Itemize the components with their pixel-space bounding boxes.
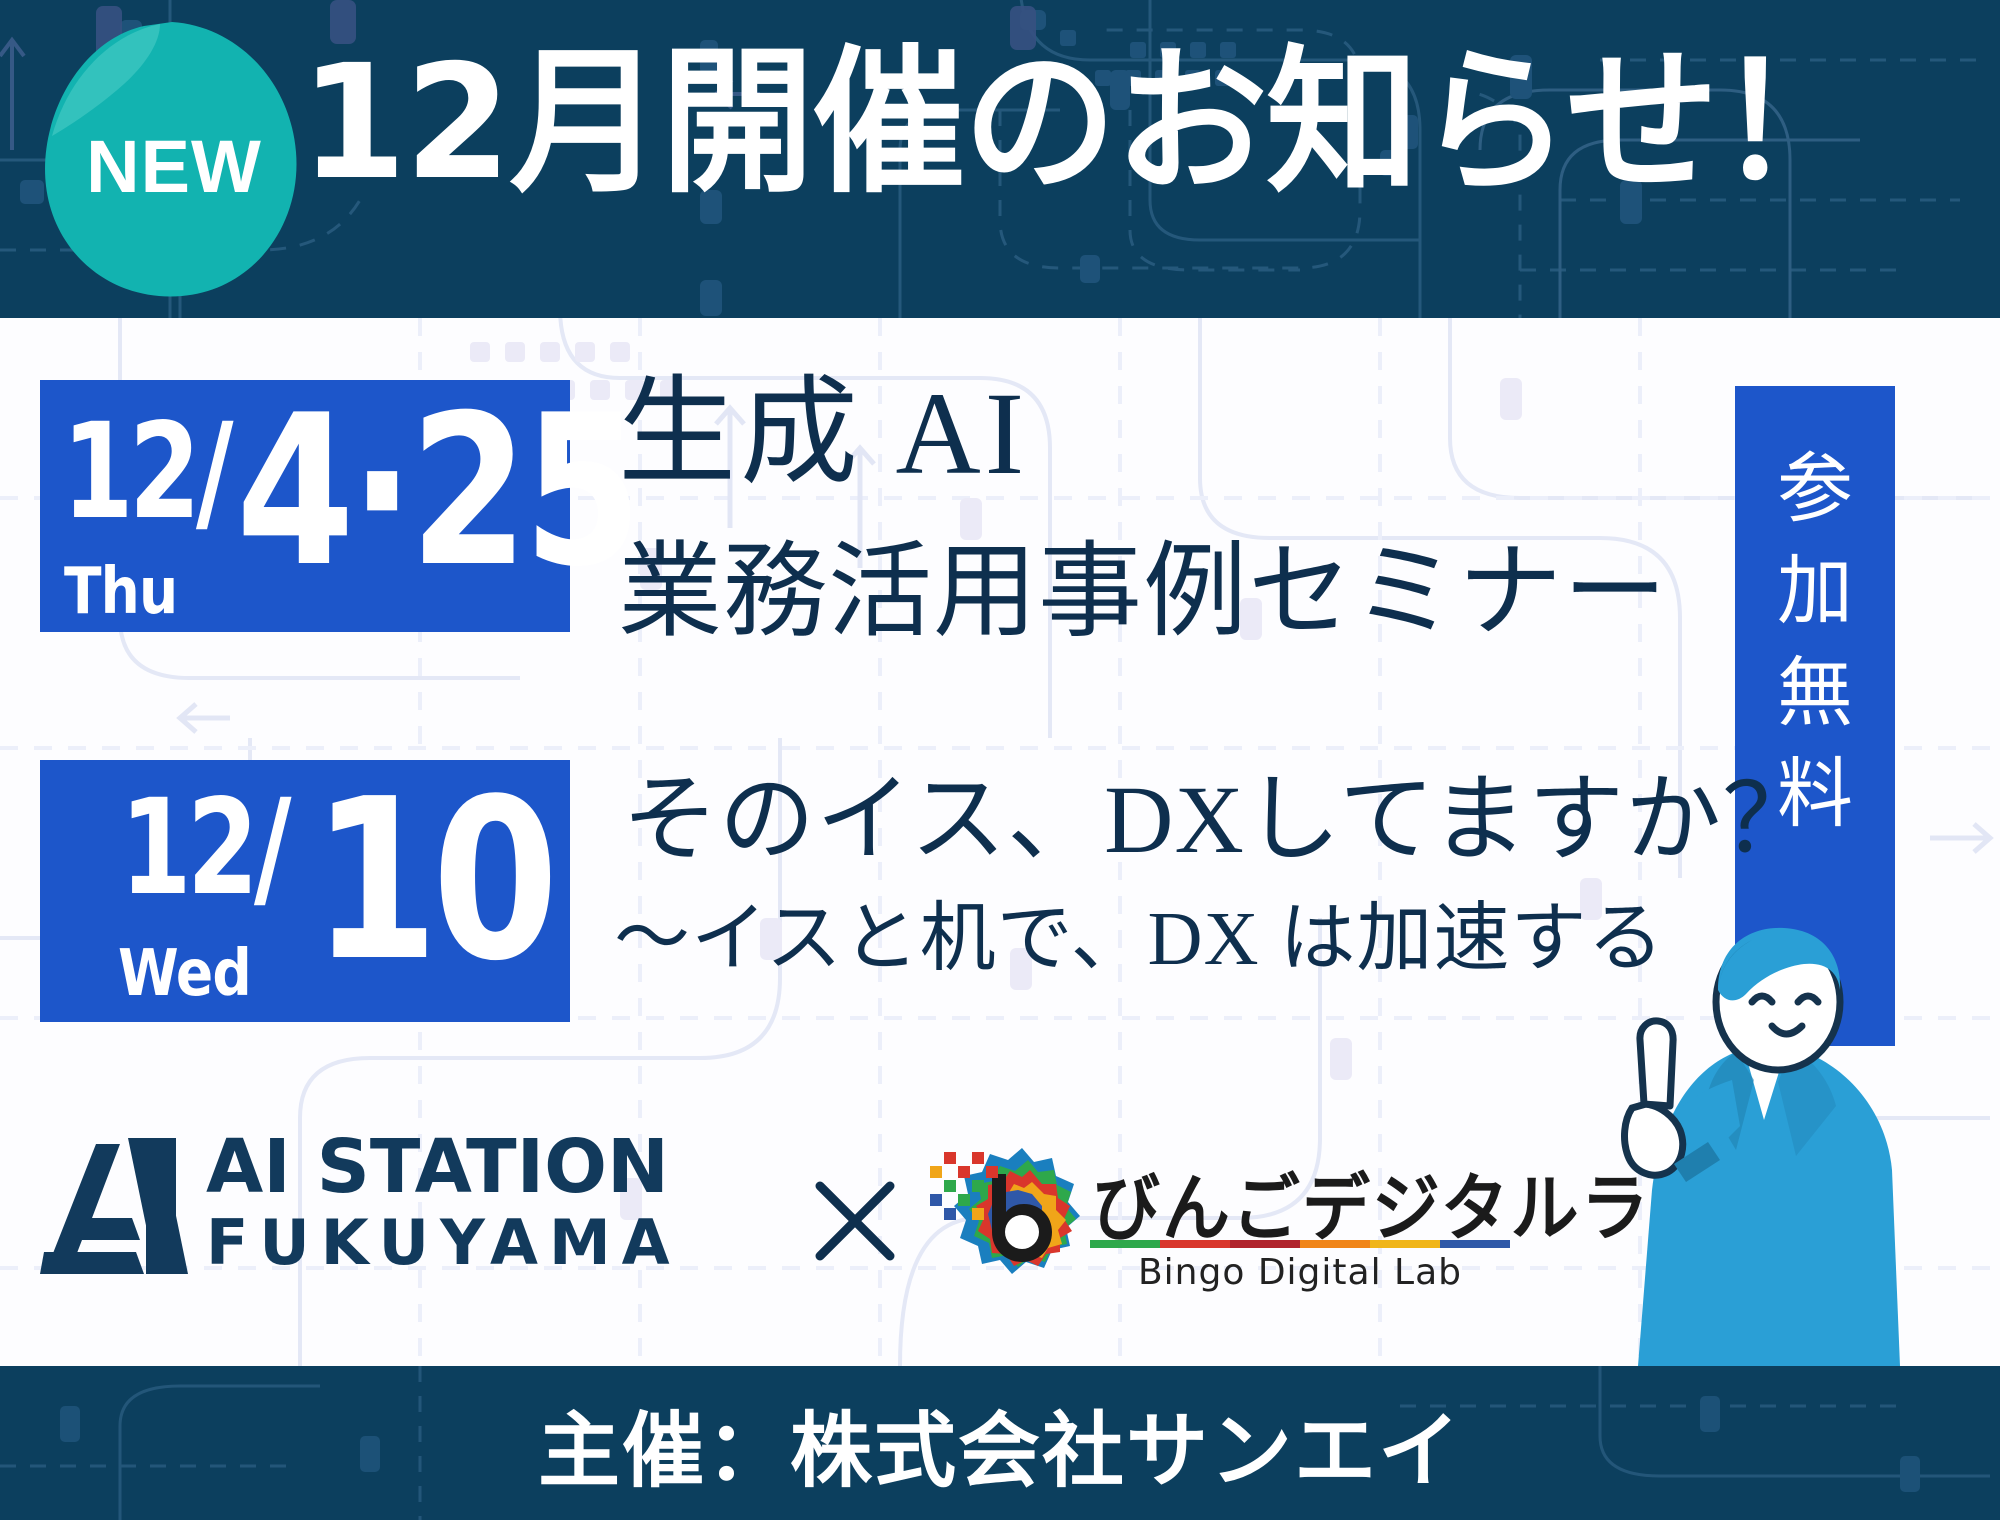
new-badge-label: NEW [40, 18, 302, 300]
free-char-1: 参 [1735, 438, 1895, 540]
event-2-title-line1: そのイス、DXしてますか？ [622, 770, 1819, 871]
footer-text: 主催：株式会社サンエイ [0, 1366, 2000, 1520]
logo-row: AI STATION FUKUYAMA [0, 1120, 1540, 1320]
date-badge-2-month: 12/ [120, 782, 287, 914]
date-badge-2-weekday: Wed [118, 942, 251, 1006]
event-1-title-line1: 生成 AI [618, 372, 1028, 496]
date-badge-2: 12/ Wed 10 [40, 760, 570, 1022]
free-char-2: 加 [1735, 540, 1895, 642]
bingo-gear-b-mark-icon [930, 1136, 1080, 1286]
date-badge-1-weekday: Thu [64, 560, 177, 624]
event-1-title-line2: 業務活用事例セミナー [618, 538, 1668, 647]
ai-station-line2: FUKUYAMA [206, 1209, 681, 1277]
ai-station-wordmark: AI STATION FUKUYAMA [206, 1130, 681, 1278]
date-badge-1-day: 4·25 [236, 388, 637, 596]
bingo-english-name: Bingo Digital Lab [1090, 1252, 1510, 1293]
poster-header: NEW 12月開催のお知らせ！ [0, 0, 2000, 318]
ai-station-line1: AI STATION [206, 1130, 681, 1205]
cross-separator-icon [812, 1178, 898, 1264]
date-badge-1: 12/ Thu 4·25 [40, 380, 570, 632]
ai-station-mark-icon [40, 1134, 188, 1274]
event-2-title-line2: 〜イスと机で、DX は加速する [614, 900, 1664, 980]
ai-station-logo: AI STATION FUKUYAMA [40, 1130, 681, 1278]
new-badge: NEW [40, 18, 302, 300]
date-badge-2-day: 10 [312, 770, 552, 992]
free-char-3: 無 [1735, 642, 1895, 744]
seminar-poster: NEW 12月開催のお知らせ！ [0, 0, 2000, 1520]
poster-footer: 主催：株式会社サンエイ [0, 1366, 2000, 1520]
bingo-color-rule [1090, 1240, 1510, 1248]
pointing-businessman-illustration [1540, 920, 1970, 1366]
header-title: 12月開催のお知らせ！ [300, 44, 1868, 202]
date-badge-1-month: 12/ [62, 406, 229, 538]
